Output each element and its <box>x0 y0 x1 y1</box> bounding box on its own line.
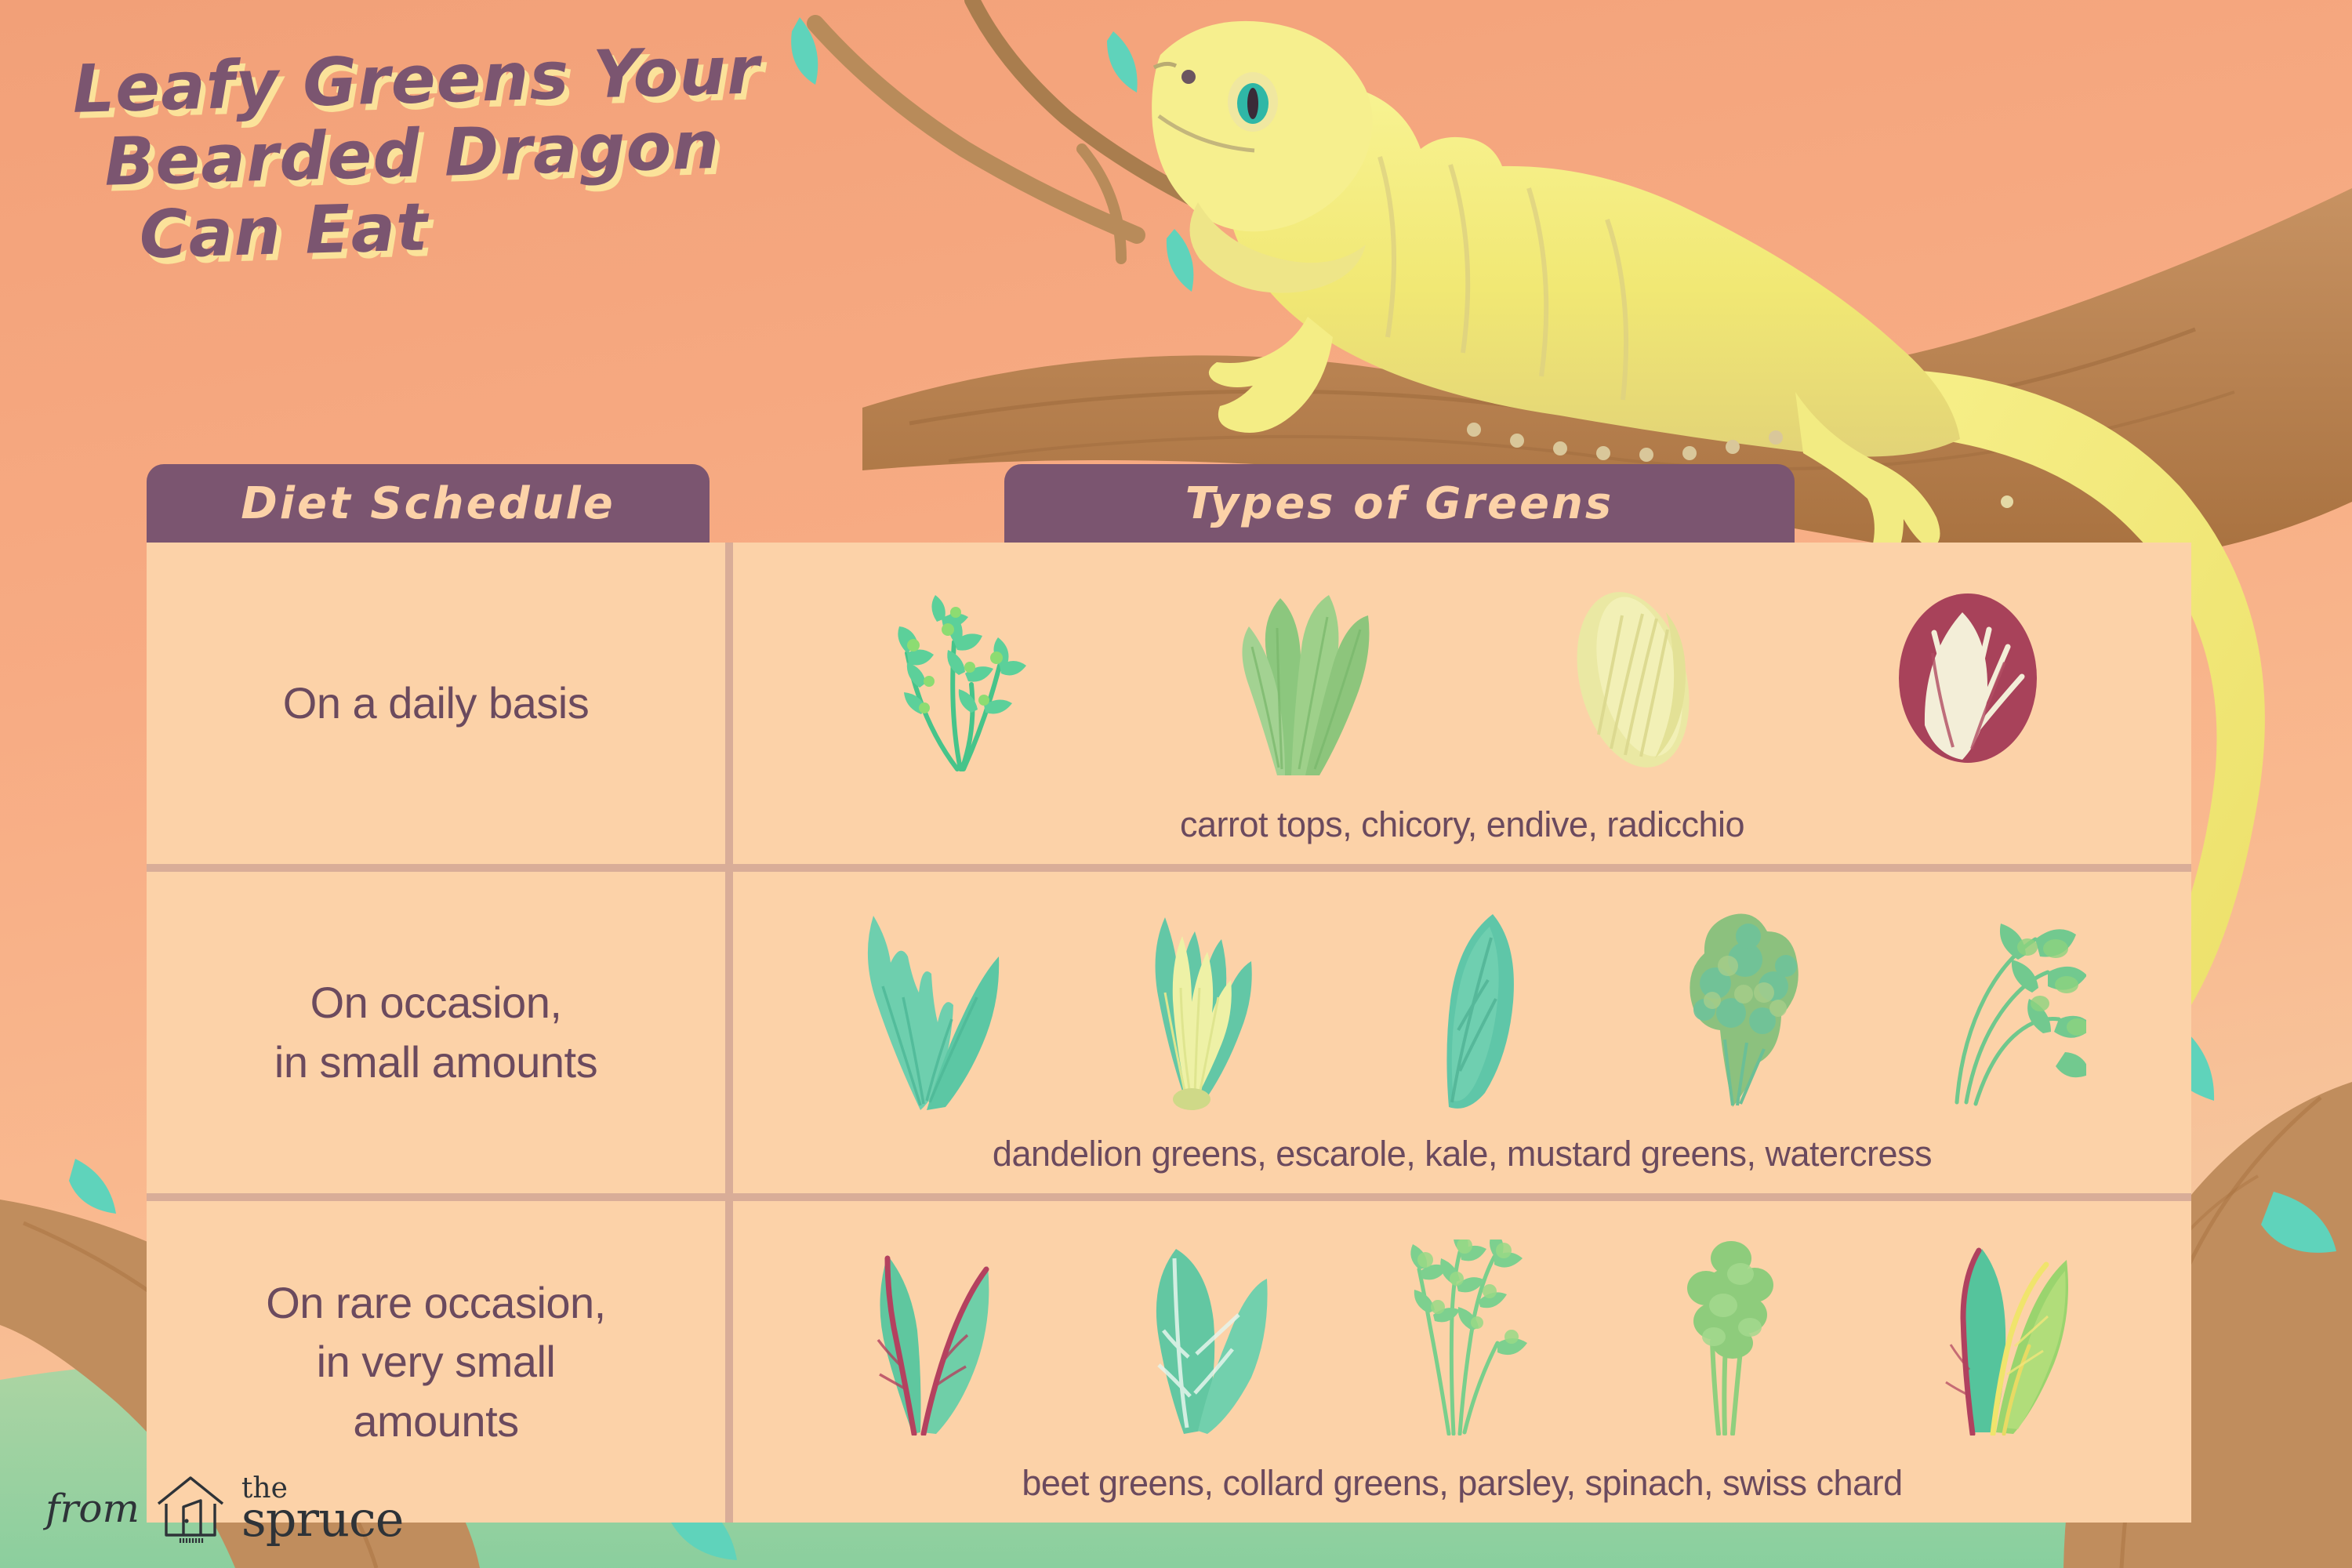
row-divider <box>147 1193 2191 1201</box>
greens-cell-row-2: dandelion greens, escarole, kale, mustar… <box>733 872 2191 1193</box>
diet-table: Diet Schedule Types of Greens On a daily… <box>147 464 2191 1523</box>
swiss-chard-icon <box>1918 1240 2086 1436</box>
chicory-icon <box>1203 581 1384 777</box>
greens-illustrations-row-3 <box>733 1201 2191 1463</box>
schedule-label-row-1: On a daily basis <box>283 673 589 733</box>
column-header-types-of-greens: Types of Greens <box>1004 464 1795 543</box>
greens-illustrations-row-2 <box>733 872 2191 1134</box>
escarole-icon <box>1109 905 1277 1112</box>
carrot-tops-icon <box>866 581 1047 777</box>
brand-logo[interactable]: from the spruce <box>45 1472 403 1544</box>
column-header-types-of-greens-label: Types of Greens <box>1185 478 1613 529</box>
mustard-greens-icon <box>1648 905 1817 1112</box>
column-header-diet-schedule-label: Diet Schedule <box>241 478 615 529</box>
logo-spruce-label: spruce <box>241 1500 404 1540</box>
schedule-label-row-3: On rare occasion, in very small amounts <box>266 1273 605 1451</box>
spinach-icon <box>1648 1240 1817 1436</box>
greens-caption-row-3: beet greens, collard greens, parsley, sp… <box>1022 1463 1902 1512</box>
column-divider <box>725 872 733 1193</box>
logo-from-label: from <box>45 1486 140 1531</box>
kale-icon <box>1378 905 1547 1112</box>
collard-greens-icon <box>1109 1240 1277 1436</box>
greens-cell-row-3: beet greens, collard greens, parsley, sp… <box>733 1201 2191 1523</box>
greens-caption-row-1: carrot tops, chicory, endive, radicchio <box>1180 804 1744 853</box>
house-icon <box>154 1472 227 1544</box>
parsley-icon <box>1378 1240 1547 1436</box>
table-row: On occasion, in small amounts <box>147 872 725 1193</box>
endive-icon <box>1541 581 1721 777</box>
column-divider <box>725 1201 733 1523</box>
beet-greens-icon <box>839 1240 1007 1436</box>
table-row: On a daily basis <box>147 543 725 864</box>
page-title: Leafy Greens Your Bearded Dragon Can Eat <box>71 29 908 274</box>
logo-wordmark: the spruce <box>241 1477 404 1540</box>
watercress-icon <box>1918 905 2086 1112</box>
greens-caption-row-2: dandelion greens, escarole, kale, mustar… <box>993 1134 1932 1182</box>
row-divider <box>147 864 2191 872</box>
column-divider <box>725 543 733 864</box>
column-header-diet-schedule: Diet Schedule <box>147 464 710 543</box>
schedule-label-row-2: On occasion, in small amounts <box>274 973 597 1091</box>
dandelion-greens-icon <box>839 905 1007 1112</box>
infographic-canvas: Leafy Greens Your Bearded Dragon Can Eat… <box>0 0 2352 1568</box>
table-grid: On a daily basis <box>147 543 2191 1523</box>
radicchio-icon <box>1878 581 2058 777</box>
greens-illustrations-row-1 <box>733 543 2191 804</box>
greens-cell-row-1: carrot tops, chicory, endive, radicchio <box>733 543 2191 864</box>
